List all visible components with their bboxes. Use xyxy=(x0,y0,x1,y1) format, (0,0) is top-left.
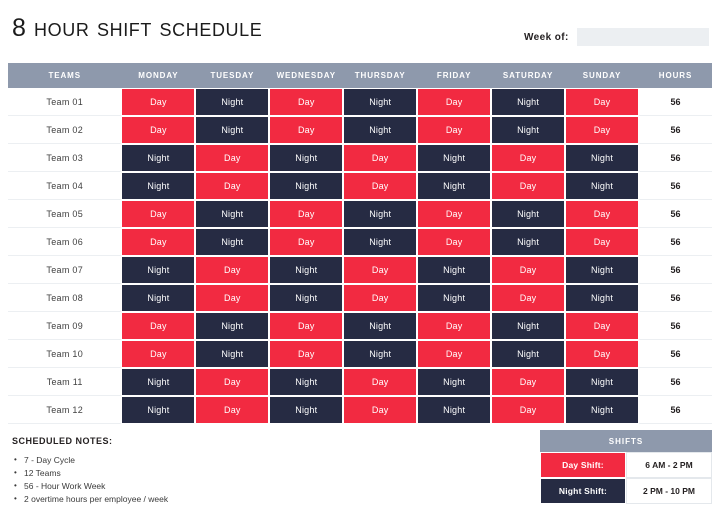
hours-cell: 56 xyxy=(639,340,712,368)
shift-cell-night[interactable]: Night xyxy=(343,228,417,256)
shift-cell-day[interactable]: Day xyxy=(121,228,195,256)
shift-cell-day[interactable]: Day xyxy=(491,284,565,312)
shifts-legend-header-row: SHIFTS xyxy=(540,430,712,452)
shift-cell-night[interactable]: Night xyxy=(417,396,491,424)
hours-cell: 56 xyxy=(639,144,712,172)
team-name-cell: Team 12 xyxy=(8,396,121,424)
legend-day-time: 6 AM - 2 PM xyxy=(626,452,712,478)
table-row: Team 09DayNightDayNightDayNightDay56 xyxy=(8,312,712,340)
shift-cell-day[interactable]: Day xyxy=(565,340,639,368)
shift-cell-night[interactable]: Night xyxy=(417,284,491,312)
table-row: Team 05DayNightDayNightDayNightDay56 xyxy=(8,200,712,228)
shift-cell-day[interactable]: Day xyxy=(343,284,417,312)
note-item: 7 - Day Cycle xyxy=(12,454,332,467)
shift-cell-day[interactable]: Day xyxy=(491,172,565,200)
shift-cell-day[interactable]: Day xyxy=(417,88,491,116)
shift-cell-day[interactable]: Day xyxy=(491,396,565,424)
hours-cell: 56 xyxy=(639,200,712,228)
shifts-legend-title: SHIFTS xyxy=(540,430,712,452)
column-header-monday: MONDAY xyxy=(121,63,195,88)
column-header-tuesday: TUESDAY xyxy=(195,63,269,88)
shift-cell-day[interactable]: Day xyxy=(491,144,565,172)
column-header-friday: FRIDAY xyxy=(417,63,491,88)
shifts-legend-row: Day Shift:6 AM - 2 PM xyxy=(540,452,712,478)
team-name-cell: Team 06 xyxy=(8,228,121,256)
shift-cell-night[interactable]: Night xyxy=(121,172,195,200)
shift-cell-day[interactable]: Day xyxy=(269,88,343,116)
shift-cell-day[interactable]: Day xyxy=(417,340,491,368)
shift-cell-day[interactable]: Day xyxy=(343,256,417,284)
notes-list: 7 - Day Cycle12 Teams56 - Hour Work Week… xyxy=(12,454,332,506)
table-row: Team 12NightDayNightDayNightDayNight56 xyxy=(8,396,712,424)
note-item: 2 overtime hours per employee / week xyxy=(12,493,332,506)
shift-cell-night[interactable]: Night xyxy=(121,144,195,172)
shift-cell-night[interactable]: Night xyxy=(343,200,417,228)
shift-cell-day[interactable]: Day xyxy=(269,228,343,256)
shift-cell-day[interactable]: Day xyxy=(417,312,491,340)
shift-cell-day[interactable]: Day xyxy=(121,312,195,340)
table-row: Team 03NightDayNightDayNightDayNight56 xyxy=(8,144,712,172)
shift-cell-day[interactable]: Day xyxy=(269,312,343,340)
shift-cell-day[interactable]: Day xyxy=(417,200,491,228)
shift-cell-day[interactable]: Day xyxy=(195,256,269,284)
table-row: Team 11NightDayNightDayNightDayNight56 xyxy=(8,368,712,396)
shift-cell-day[interactable]: Day xyxy=(565,312,639,340)
shift-cell-night[interactable]: Night xyxy=(343,88,417,116)
shift-cell-day[interactable]: Day xyxy=(269,116,343,144)
shift-cell-night[interactable]: Night xyxy=(491,312,565,340)
hours-cell: 56 xyxy=(639,172,712,200)
shifts-legend-table: SHIFTS Day Shift:6 AM - 2 PMNight Shift:… xyxy=(540,430,712,504)
shift-cell-night[interactable]: Night xyxy=(269,172,343,200)
table-row: Team 02DayNightDayNightDayNightDay56 xyxy=(8,116,712,144)
table-row: Team 08NightDayNightDayNightDayNight56 xyxy=(8,284,712,312)
scheduled-notes-block: SCHEDULED NOTES: 7 - Day Cycle12 Teams56… xyxy=(12,436,332,506)
shift-cell-day[interactable]: Day xyxy=(343,144,417,172)
legend-night-time: 2 PM - 10 PM xyxy=(626,478,712,504)
page-title: 8 Hour Shift Schedule xyxy=(12,14,262,43)
shift-cell-day[interactable]: Day xyxy=(269,200,343,228)
shift-cell-day[interactable]: Day xyxy=(195,172,269,200)
shifts-legend-row: Night Shift:2 PM - 10 PM xyxy=(540,478,712,504)
shift-cell-night[interactable]: Night xyxy=(565,368,639,396)
legend-night-label: Night Shift: xyxy=(540,478,626,504)
shift-cell-night[interactable]: Night xyxy=(121,396,195,424)
shift-cell-night[interactable]: Night xyxy=(269,144,343,172)
team-name-cell: Team 05 xyxy=(8,200,121,228)
shift-cell-night[interactable]: Night xyxy=(195,340,269,368)
hours-cell: 56 xyxy=(639,116,712,144)
team-name-cell: Team 01 xyxy=(8,88,121,116)
shift-cell-day[interactable]: Day xyxy=(565,88,639,116)
shift-cell-night[interactable]: Night xyxy=(269,396,343,424)
shift-cell-day[interactable]: Day xyxy=(565,116,639,144)
hours-cell: 56 xyxy=(639,228,712,256)
hours-cell: 56 xyxy=(639,312,712,340)
shift-cell-night[interactable]: Night xyxy=(417,256,491,284)
shift-cell-day[interactable]: Day xyxy=(491,256,565,284)
shift-cell-day[interactable]: Day xyxy=(121,88,195,116)
team-name-cell: Team 11 xyxy=(8,368,121,396)
shift-cell-night[interactable]: Night xyxy=(491,88,565,116)
shift-cell-night[interactable]: Night xyxy=(121,256,195,284)
column-header-hours: HOURS xyxy=(639,63,712,88)
hours-cell: 56 xyxy=(639,284,712,312)
table-row: Team 06DayNightDayNightDayNightDay56 xyxy=(8,228,712,256)
shift-cell-day[interactable]: Day xyxy=(343,396,417,424)
team-name-cell: Team 04 xyxy=(8,172,121,200)
shift-cell-night[interactable]: Night xyxy=(491,340,565,368)
shift-cell-day[interactable]: Day xyxy=(565,200,639,228)
shift-cell-night[interactable]: Night xyxy=(269,368,343,396)
shift-cell-night[interactable]: Night xyxy=(491,116,565,144)
page-header: 8 Hour Shift Schedule Week of: xyxy=(0,0,720,60)
hours-cell: 56 xyxy=(639,88,712,116)
week-of-input[interactable] xyxy=(577,28,709,46)
hours-cell: 56 xyxy=(639,368,712,396)
shift-cell-night[interactable]: Night xyxy=(565,144,639,172)
legend-day-label: Day Shift: xyxy=(540,452,626,478)
table-row: Team 07NightDayNightDayNightDayNight56 xyxy=(8,256,712,284)
notes-title: SCHEDULED NOTES: xyxy=(12,436,332,446)
shift-cell-night[interactable]: Night xyxy=(195,228,269,256)
shift-cell-day[interactable]: Day xyxy=(343,172,417,200)
shift-cell-night[interactable]: Night xyxy=(565,284,639,312)
shift-cell-night[interactable]: Night xyxy=(269,256,343,284)
shift-cell-night[interactable]: Night xyxy=(195,312,269,340)
shift-cell-night[interactable]: Night xyxy=(417,368,491,396)
shift-cell-day[interactable]: Day xyxy=(195,284,269,312)
shift-cell-day[interactable]: Day xyxy=(491,368,565,396)
team-name-cell: Team 08 xyxy=(8,284,121,312)
table-row: Team 04NightDayNightDayNightDayNight56 xyxy=(8,172,712,200)
shift-cell-night[interactable]: Night xyxy=(565,256,639,284)
shift-cell-night[interactable]: Night xyxy=(565,172,639,200)
shift-cell-day[interactable]: Day xyxy=(121,340,195,368)
shift-cell-night[interactable]: Night xyxy=(417,172,491,200)
column-header-wednesday: WEDNESDAY xyxy=(269,63,343,88)
shift-cell-night[interactable]: Night xyxy=(121,368,195,396)
hours-cell: 56 xyxy=(639,396,712,424)
shift-cell-day[interactable]: Day xyxy=(565,228,639,256)
column-header-teams: TEAMS xyxy=(8,63,121,88)
shift-cell-night[interactable]: Night xyxy=(195,200,269,228)
shift-cell-day[interactable]: Day xyxy=(343,368,417,396)
shift-cell-day[interactable]: Day xyxy=(195,144,269,172)
shift-cell-day[interactable]: Day xyxy=(121,200,195,228)
table-header-row: TEAMS MONDAY TUESDAY WEDNESDAY THURSDAY … xyxy=(8,63,712,88)
shift-cell-day[interactable]: Day xyxy=(417,228,491,256)
table-row: Team 10DayNightDayNightDayNightDay56 xyxy=(8,340,712,368)
week-of-label: Week of: xyxy=(524,32,569,43)
team-name-cell: Team 03 xyxy=(8,144,121,172)
team-name-cell: Team 09 xyxy=(8,312,121,340)
week-of-group: Week of: xyxy=(524,28,709,46)
shift-cell-night[interactable]: Night xyxy=(269,284,343,312)
column-header-sunday: SUNDAY xyxy=(565,63,639,88)
shift-cell-day[interactable]: Day xyxy=(121,116,195,144)
shift-cell-night[interactable]: Night xyxy=(491,228,565,256)
column-header-thursday: THURSDAY xyxy=(343,63,417,88)
table-row: Team 01DayNightDayNightDayNightDay56 xyxy=(8,88,712,116)
hours-cell: 56 xyxy=(639,256,712,284)
team-name-cell: Team 02 xyxy=(8,116,121,144)
shift-cell-night[interactable]: Night xyxy=(417,144,491,172)
shift-cell-day[interactable]: Day xyxy=(417,116,491,144)
shift-cell-day[interactable]: Day xyxy=(195,396,269,424)
team-name-cell: Team 10 xyxy=(8,340,121,368)
shift-cell-night[interactable]: Night xyxy=(195,88,269,116)
shift-schedule-table: TEAMS MONDAY TUESDAY WEDNESDAY THURSDAY … xyxy=(8,63,712,424)
shift-cell-night[interactable]: Night xyxy=(565,396,639,424)
note-item: 56 - Hour Work Week xyxy=(12,480,332,493)
shift-cell-night[interactable]: Night xyxy=(195,116,269,144)
shift-cell-night[interactable]: Night xyxy=(343,312,417,340)
shift-cell-night[interactable]: Night xyxy=(121,284,195,312)
shift-cell-day[interactable]: Day xyxy=(195,368,269,396)
shift-cell-night[interactable]: Night xyxy=(343,340,417,368)
column-header-saturday: SATURDAY xyxy=(491,63,565,88)
shift-cell-day[interactable]: Day xyxy=(269,340,343,368)
team-name-cell: Team 07 xyxy=(8,256,121,284)
shift-cell-night[interactable]: Night xyxy=(343,116,417,144)
shift-cell-night[interactable]: Night xyxy=(491,200,565,228)
note-item: 12 Teams xyxy=(12,467,332,480)
